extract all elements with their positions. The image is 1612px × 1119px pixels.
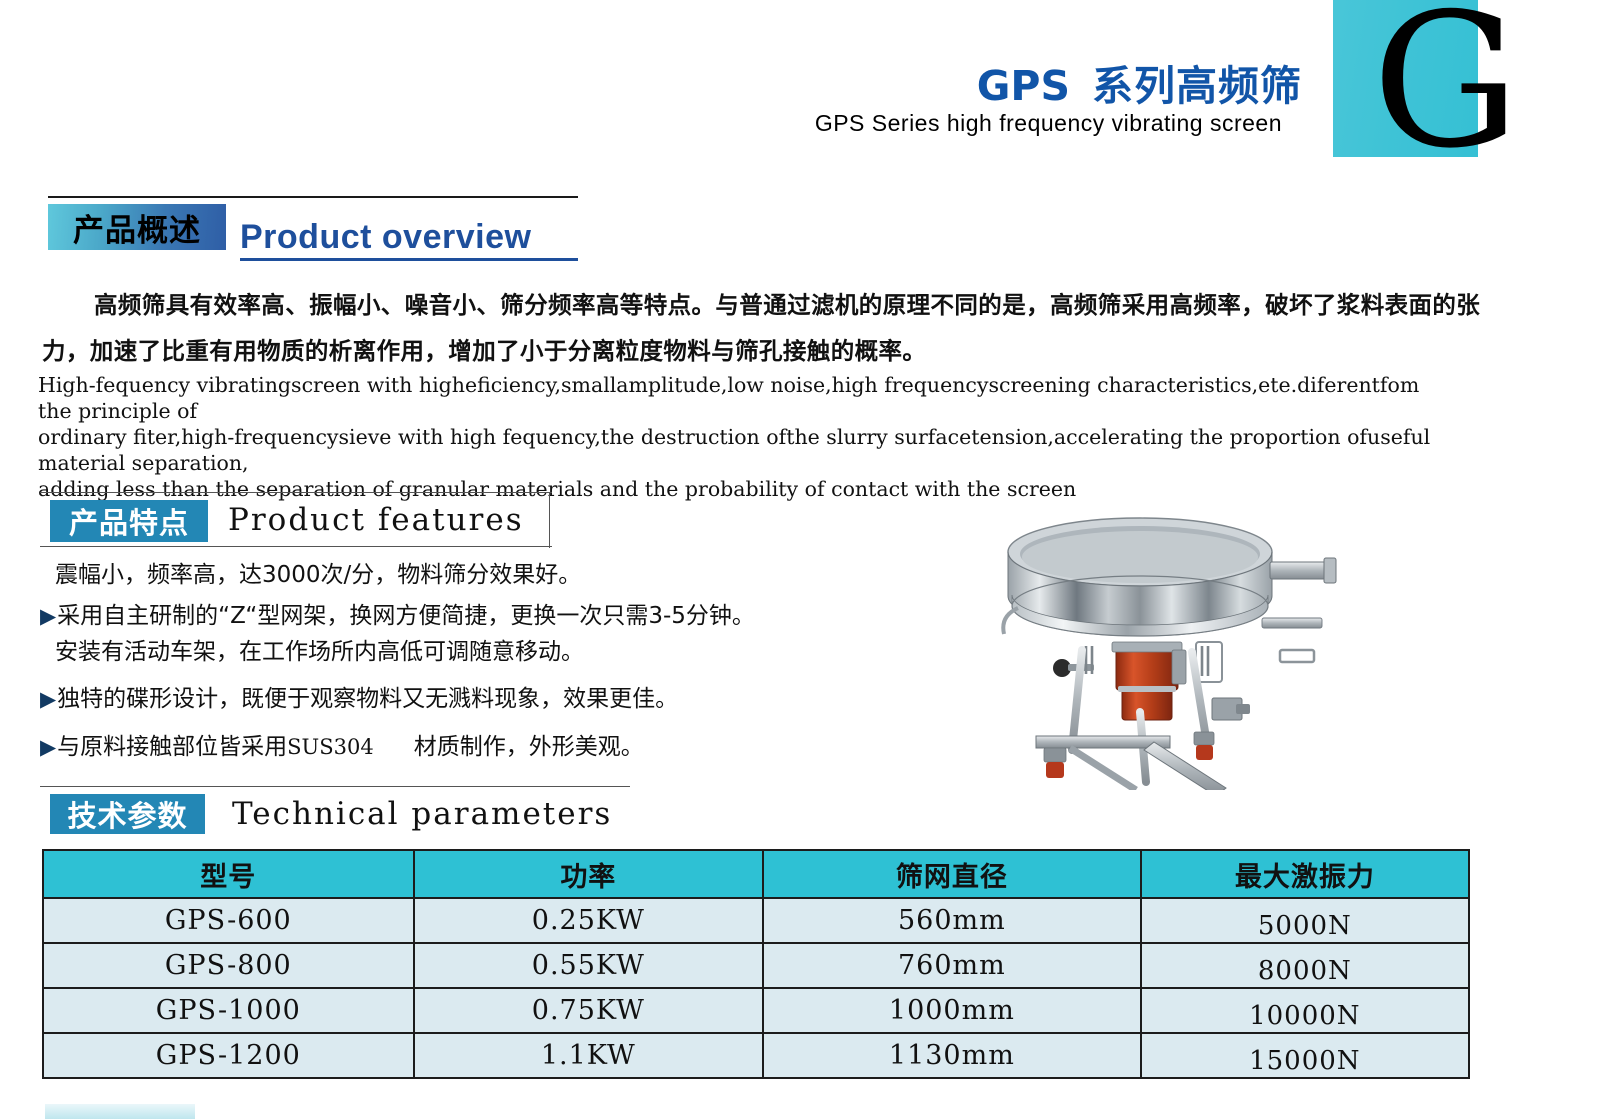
- brand-logo-letter: G: [1372, 0, 1520, 166]
- cell-diameter: 1130mm: [763, 1033, 1141, 1078]
- section-title-technical-parameters: Technical parameters: [232, 796, 612, 832]
- column-header-power: 功率: [414, 850, 763, 898]
- triangle-bullet-icon: ▶: [40, 687, 56, 711]
- feature-item-4-text-c: 材质制作，外形美观。: [414, 734, 644, 760]
- gps-vibrating-screen-illustration: [940, 500, 1340, 790]
- cell-diameter: 760mm: [763, 943, 1141, 988]
- section-badge-overview: 产品概述: [48, 204, 226, 250]
- table-row: GPS-600 0.25KW 560mm 5000N: [43, 898, 1469, 943]
- triangle-bullet-icon: ▶: [40, 604, 56, 628]
- features-heading-rule: [40, 492, 552, 493]
- cell-power: 0.25KW: [414, 898, 763, 943]
- feature-item-2-line2: 安装有活动车架，在工作场所内高低可调随意移动。: [55, 634, 584, 670]
- cell-model: GPS-800: [43, 943, 414, 988]
- feature-item-2-line2-text: 安装有活动车架，在工作场所内高低可调随意移动。: [55, 639, 584, 665]
- section-badge-technical: 技术参数: [50, 794, 205, 834]
- feature-item-2: ▶采用自主研制的“Z“型网架，换网方便简捷，更换一次只需3-5分钟。: [40, 598, 755, 634]
- cell-diameter: 560mm: [763, 898, 1141, 943]
- overview-paragraph-en: High-fequency vibratingscreen with highe…: [38, 372, 1458, 502]
- cell-force: 10000N: [1141, 988, 1469, 1033]
- table-row: GPS-1000 0.75KW 1000mm 10000N: [43, 988, 1469, 1033]
- cell-power: 0.55KW: [414, 943, 763, 988]
- page-title-cn-rest: 系列高频筛: [1092, 62, 1302, 110]
- section-title-product-overview: Product overview: [240, 218, 531, 257]
- feature-item-3-text: 独特的碟形设计，既便于观察物料又无溅料现象，效果更佳。: [57, 686, 678, 712]
- page-title-gps: GPS: [977, 62, 1070, 110]
- overview-heading-rule: [48, 196, 578, 198]
- cell-model: GPS-600: [43, 898, 414, 943]
- feature-item-2-text: 采用自主研制的“Z“型网架，换网方便简捷，更换一次只需3-5分钟。: [57, 603, 755, 629]
- feature-item-4-material: SUS304: [287, 735, 374, 759]
- features-heading-rule-bottom: [40, 546, 552, 547]
- cell-power: 1.1KW: [414, 1033, 763, 1078]
- overview-paragraph-cn: 高频筛具有效率高、振幅小、噪音小、筛分频率高等特点。与普通过滤机的原理不同的是，…: [42, 282, 1482, 374]
- cell-force: 15000N: [1141, 1033, 1469, 1078]
- triangle-bullet-icon: ▶: [40, 735, 56, 759]
- column-header-model: 型号: [43, 850, 414, 898]
- feature-item-3: ▶独特的碟形设计，既便于观察物料又无溅料现象，效果更佳。: [40, 681, 678, 717]
- technical-heading-rule: [40, 786, 630, 787]
- page-title-en: GPS Series high frequency vibrating scre…: [815, 110, 1282, 137]
- column-header-max-exciting-force: 最大激振力: [1141, 850, 1469, 898]
- column-header-screen-diameter: 筛网直径: [763, 850, 1141, 898]
- overview-en-line-3: adding less than the separation of granu…: [38, 476, 1458, 502]
- table-row: GPS-1200 1.1KW 1130mm 15000N: [43, 1033, 1469, 1078]
- cell-model: GPS-1200: [43, 1033, 414, 1078]
- features-heading-vrule: [549, 492, 550, 548]
- table-header-row: 型号 功率 筛网直径 最大激振力: [43, 850, 1469, 898]
- next-section-badge-partial: [45, 1104, 195, 1119]
- technical-parameters-table: 型号 功率 筛网直径 最大激振力 GPS-600 0.25KW 560mm 50…: [42, 849, 1470, 1079]
- overview-paragraph-cn-text: 高频筛具有效率高、振幅小、噪音小、筛分频率高等特点。与普通过滤机的原理不同的是，…: [42, 291, 1480, 365]
- page-title-cn: GPS系列高频筛: [977, 52, 1302, 112]
- page-header: G GPS系列高频筛 GPS Series high frequency vib…: [0, 0, 1612, 160]
- overview-en-line-2: ordinary fiter,high-frequencysieve with …: [38, 424, 1458, 476]
- cell-power: 0.75KW: [414, 988, 763, 1033]
- overview-underline: [240, 258, 578, 261]
- feature-item-1-text: 震幅小，频率高，达3000次/分，物料筛分效果好。: [55, 562, 581, 588]
- feature-item-4-text-a: 与原料接触部位皆采用: [57, 734, 287, 760]
- cell-force: 8000N: [1141, 943, 1469, 988]
- feature-item-4: ▶与原料接触部位皆采用SUS304材质制作，外形美观。: [40, 729, 644, 765]
- feature-item-1: 震幅小，频率高，达3000次/分，物料筛分效果好。: [55, 557, 581, 593]
- product-photo: [940, 500, 1340, 790]
- cell-diameter: 1000mm: [763, 988, 1141, 1033]
- section-title-product-features: Product features: [228, 502, 524, 538]
- cell-model: GPS-1000: [43, 988, 414, 1033]
- table-row: GPS-800 0.55KW 760mm 8000N: [43, 943, 1469, 988]
- overview-en-line-1: High-fequency vibratingscreen with highe…: [38, 372, 1458, 424]
- section-badge-features: 产品特点: [50, 500, 208, 542]
- cell-force: 5000N: [1141, 898, 1469, 943]
